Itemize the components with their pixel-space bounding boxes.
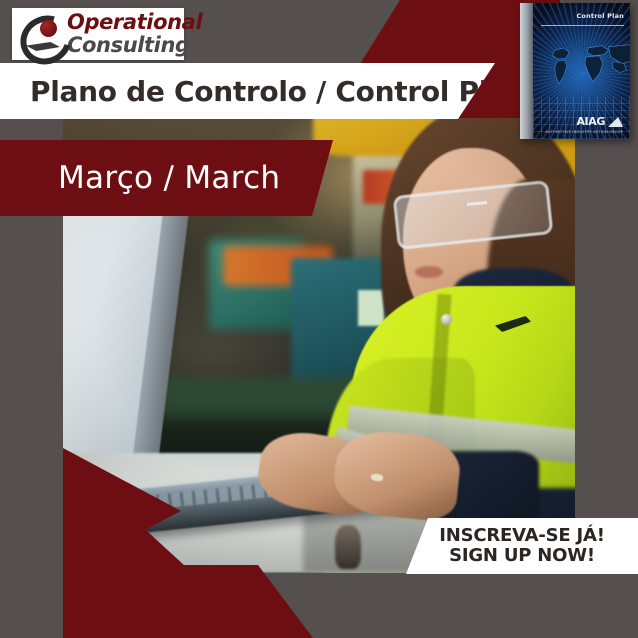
cta-line-en: SIGN UP NOW! <box>449 546 595 566</box>
book-title: Control Plan <box>576 12 624 20</box>
cta-line-pt: INSCREVA-SE JÁ! <box>439 526 605 546</box>
world-map-icon <box>539 39 630 95</box>
book-title-rule <box>541 25 624 26</box>
brand-logo-text: Operational Consulting <box>67 12 202 56</box>
orbit-swoosh-icon <box>18 12 66 56</box>
title-banner: Plano de Controlo / Control Plan <box>0 63 495 119</box>
aiag-logo-text: AIAG <box>576 116 605 127</box>
book-cover: Control Plan AIAG AUTOMOTIVE INDUSTRY AC… <box>533 3 630 139</box>
orbit-dot-shape <box>40 20 57 37</box>
month-banner: Março / March <box>0 140 333 216</box>
aiag-triangle-icon <box>608 117 623 127</box>
book-spine <box>520 3 533 139</box>
brand-logo-line1: Operational <box>67 12 202 33</box>
signup-cta-banner[interactable]: INSCREVA-SE JÁ! SIGN UP NOW! <box>406 518 638 574</box>
brand-logo: Operational Consulting <box>12 8 184 60</box>
aiag-control-plan-book: Control Plan AIAG AUTOMOTIVE INDUSTRY AC… <box>520 3 630 139</box>
month-label: Março / March <box>58 160 280 196</box>
promo-poster: Control Plan AIAG AUTOMOTIVE INDUSTRY AC… <box>0 0 638 638</box>
decorative-red-shape-bottom-base <box>63 565 313 638</box>
aiag-logo-subtitle: AUTOMOTIVE INDUSTRY ACTION GROUP <box>545 130 623 134</box>
aiag-logo: AIAG <box>576 116 623 127</box>
page-title: Plano de Controlo / Control Plan <box>30 75 526 108</box>
brand-logo-line2: Consulting <box>67 35 202 56</box>
